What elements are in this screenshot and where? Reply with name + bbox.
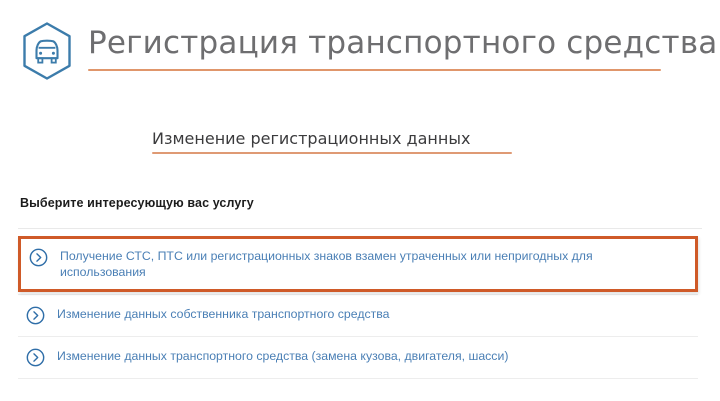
chevron-right-circle-icon — [29, 248, 48, 267]
chevron-right-circle-icon — [26, 348, 45, 367]
list-top-divider — [18, 228, 702, 229]
page-title: Регистрация транспортного средства — [88, 18, 688, 68]
title-underline — [88, 69, 661, 71]
vehicle-shield-icon — [16, 20, 78, 82]
list-item-label: Изменение данных транспортного средства … — [57, 348, 508, 365]
services-list: Получение СТС, ПТС или регистрационных з… — [0, 236, 720, 379]
page-root: Регистрация транспортного средства Измен… — [0, 0, 720, 401]
page-header: Регистрация транспортного средства — [0, 18, 720, 84]
list-item-service-3[interactable]: Изменение данных транспортного средства … — [18, 337, 698, 378]
list-item-label: Получение СТС, ПТС или регистрационных з… — [60, 248, 672, 280]
subtitle-text: Изменение регистрационных данных — [152, 129, 572, 149]
subtitle-block: Изменение регистрационных данных — [152, 129, 572, 154]
header-title-block: Регистрация транспортного средства — [88, 18, 688, 71]
list-item-service-1[interactable]: Получение СТС, ПТС или регистрационных з… — [18, 236, 698, 292]
list-item-service-2[interactable]: Изменение данных собственника транспортн… — [18, 295, 698, 336]
subtitle-underline — [152, 152, 512, 154]
list-divider-3 — [18, 378, 698, 379]
list-item-label: Изменение данных собственника транспортн… — [57, 306, 390, 323]
section-prompt: Выберите интересующую вас услугу — [20, 196, 254, 210]
chevron-right-circle-icon — [26, 306, 45, 325]
